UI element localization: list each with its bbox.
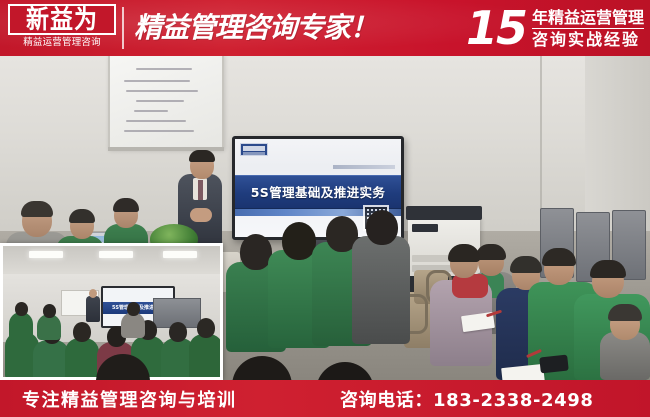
- promo-banner: 新益为 精益运营管理咨询 精益管理咨询专家！ 15 年精益运营管理 咨询实战经验: [0, 0, 650, 417]
- header-slogan: 精益管理咨询专家！: [134, 5, 384, 51]
- inset-presenter-body: [86, 296, 100, 322]
- years-line-1: 年精益运营管理: [532, 7, 644, 29]
- inset-presenter-head: [89, 289, 97, 298]
- training-photo: 5S管理基础及推进实务: [0, 56, 650, 380]
- footer-tagline: 专注精益管理咨询与培训: [22, 386, 237, 412]
- header-divider: [122, 7, 124, 49]
- logo-name: 新益为: [10, 3, 114, 33]
- slide-title-band: 5S管理基础及推进实务: [235, 175, 401, 209]
- years-number: 15: [466, 5, 532, 51]
- presenter-hands: [190, 208, 212, 222]
- years-text: 年精益运营管理 咨询实战经验: [532, 7, 644, 50]
- brand-logo: 新益为 精益运营管理咨询: [8, 4, 116, 52]
- footer-phone: 咨询电话：183-2338-2498: [340, 386, 594, 412]
- presenter-hair: [189, 150, 215, 162]
- years-block: 15 年精益运营管理 咨询实战经验: [466, 2, 644, 54]
- whiteboard: [108, 56, 224, 149]
- footer-bar: 专注精益管理咨询与培训 咨询电话：183-2338-2498: [0, 380, 650, 417]
- presenter-tie: [198, 180, 203, 200]
- years-line-2: 咨询实战经验: [532, 29, 644, 50]
- smartphone: [539, 355, 569, 374]
- logo-subtitle: 精益运营管理咨询: [8, 36, 116, 50]
- logo-box: 新益为: [8, 4, 116, 35]
- header-bar: 新益为 精益运营管理咨询 精益管理咨询专家！ 15 年精益运营管理 咨询实战经验: [0, 0, 650, 56]
- slide-meta-text: [333, 165, 395, 169]
- slide-logo-icon: [240, 143, 268, 156]
